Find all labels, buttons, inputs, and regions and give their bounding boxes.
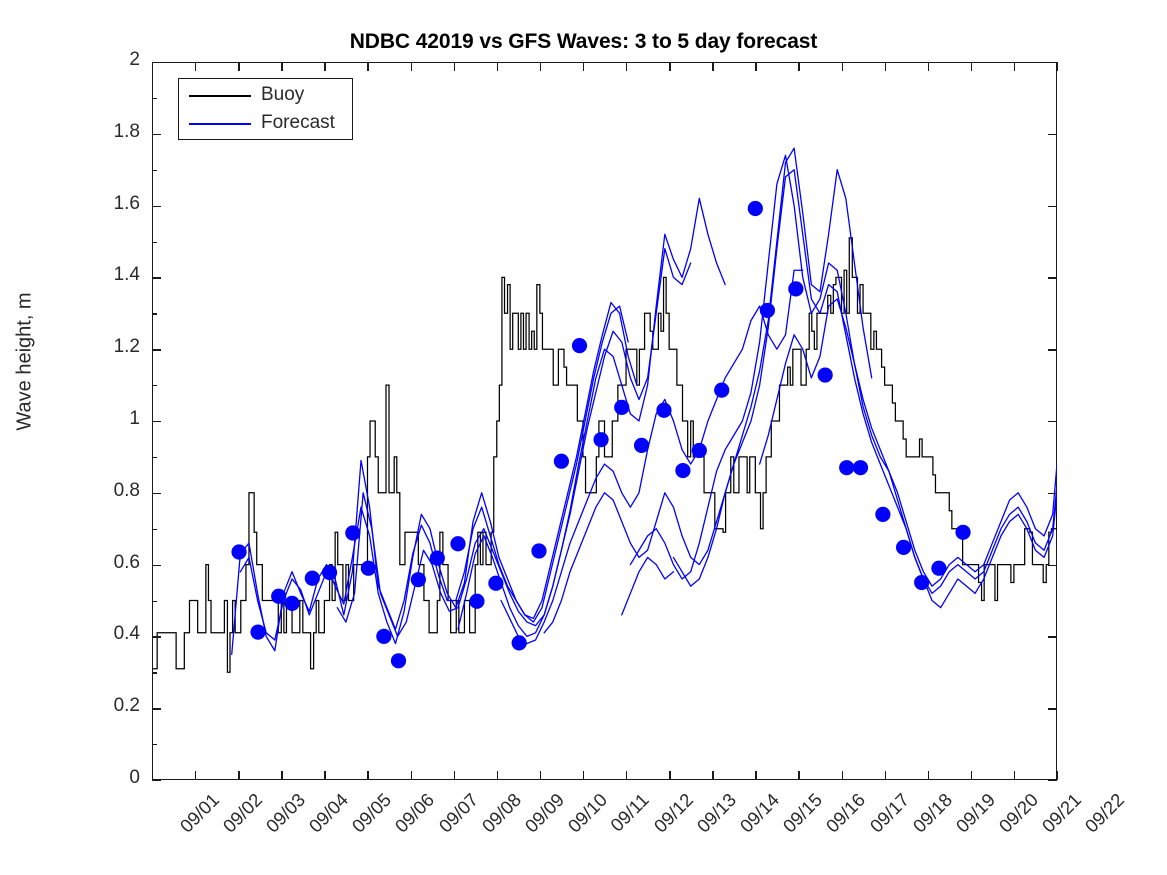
y-minor-tick — [152, 744, 157, 745]
forecast-marker-15[interactable] — [512, 635, 527, 650]
y-tick-label: 0.2 — [40, 695, 140, 717]
x-tick-label: 09/02 — [219, 789, 267, 837]
y-tick-mark — [152, 565, 161, 566]
legend-label-buoy: Buoy — [261, 84, 304, 106]
x-tick-label: 09/16 — [822, 789, 870, 837]
x-tick-label: 09/06 — [391, 789, 439, 837]
x-tick-mark — [755, 771, 756, 780]
y-tick-label: 1.8 — [40, 121, 140, 143]
x-tick-mark-top — [152, 62, 153, 71]
forecast-marker-23[interactable] — [675, 463, 690, 478]
x-tick-mark — [712, 771, 713, 780]
x-tick-label: 09/15 — [779, 789, 827, 837]
x-tick-label: 09/08 — [477, 789, 525, 837]
y-minor-tick — [152, 457, 157, 458]
x-tick-label: 09/21 — [1037, 789, 1085, 837]
forecast-marker-6[interactable] — [345, 525, 360, 540]
legend-item-buoy[interactable]: Buoy — [179, 83, 354, 109]
forecast-marker-19[interactable] — [593, 432, 608, 447]
x-tick-mark-top — [497, 62, 498, 71]
x-tick-mark-top — [454, 62, 455, 71]
forecast-marker-16[interactable] — [531, 543, 546, 558]
y-tick-label: 0.4 — [40, 623, 140, 645]
forecast-marker-4[interactable] — [305, 571, 320, 586]
y-tick-label: 1.2 — [40, 336, 140, 358]
y-axis-label: Wave height, m — [14, 132, 37, 592]
figure-canvas: NDBC 42019 vs GFS Waves: 3 to 5 day fore… — [0, 0, 1167, 875]
x-tick-mark — [971, 771, 972, 780]
forecast-marker-36[interactable] — [955, 525, 970, 540]
forecast-marker-2[interactable] — [271, 589, 286, 604]
x-tick-mark-top — [540, 62, 541, 71]
forecast-marker-14[interactable] — [488, 576, 503, 591]
x-tick-mark — [928, 771, 929, 780]
x-tick-mark — [1057, 771, 1058, 780]
forecast-marker-10[interactable] — [411, 572, 426, 587]
y-tick-mark — [152, 277, 161, 278]
forecast-marker-7[interactable] — [361, 561, 376, 576]
x-tick-mark — [367, 771, 368, 780]
forecast-marker-20[interactable] — [614, 400, 629, 415]
x-tick-mark-top — [842, 62, 843, 71]
y-minor-tick — [152, 98, 157, 99]
y-tick-mark — [152, 493, 161, 494]
y-minor-tick — [152, 601, 157, 602]
y-tick-mark — [152, 780, 161, 781]
x-tick-mark-top — [798, 62, 799, 71]
y-tick-mark — [152, 206, 161, 207]
x-tick-mark — [497, 771, 498, 780]
y-minor-tick — [152, 529, 157, 530]
chart-svg — [152, 62, 1057, 780]
x-tick-label: 09/20 — [994, 789, 1042, 837]
y-tick-mark-right — [1048, 206, 1057, 207]
x-tick-mark-top — [411, 62, 412, 71]
x-tick-mark-top — [281, 62, 282, 71]
x-tick-label: 09/05 — [348, 789, 396, 837]
x-tick-mark-top — [712, 62, 713, 71]
forecast-line-segment-9 — [622, 557, 674, 614]
y-minor-tick — [152, 313, 157, 314]
forecast-marker-31[interactable] — [853, 460, 868, 475]
legend-item-forecast[interactable]: Forecast — [179, 111, 354, 137]
x-tick-label: 09/11 — [606, 789, 653, 836]
forecast-marker-29[interactable] — [818, 367, 833, 382]
forecast-marker-0[interactable] — [231, 544, 246, 559]
y-tick-label: 2 — [40, 49, 140, 71]
y-tick-mark-right — [1048, 565, 1057, 566]
forecast-marker-18[interactable] — [572, 338, 587, 353]
x-tick-mark — [669, 771, 670, 780]
x-tick-mark-top — [195, 62, 196, 71]
x-tick-mark-top — [367, 62, 368, 71]
x-tick-mark — [885, 771, 886, 780]
x-tick-mark — [626, 771, 627, 780]
x-tick-mark — [411, 771, 412, 780]
x-tick-mark-top — [583, 62, 584, 71]
x-tick-label: 09/03 — [262, 789, 310, 837]
forecast-line-segment-3 — [458, 198, 725, 636]
chart-legend[interactable]: Buoy Forecast — [178, 78, 353, 140]
x-tick-label: 09/18 — [908, 789, 956, 837]
forecast-marker-21[interactable] — [634, 438, 649, 453]
y-tick-label: 1.6 — [40, 193, 140, 215]
x-tick-label: 09/17 — [865, 789, 913, 837]
y-minor-tick — [152, 385, 157, 386]
forecast-marker-28[interactable] — [788, 281, 803, 296]
forecast-marker-34[interactable] — [914, 575, 929, 590]
x-tick-mark-top — [928, 62, 929, 71]
x-tick-mark — [324, 771, 325, 780]
y-tick-mark-right — [1048, 493, 1057, 494]
forecast-marker-9[interactable] — [391, 653, 406, 668]
forecast-marker-33[interactable] — [896, 540, 911, 555]
legend-swatch-forecast — [189, 123, 251, 125]
forecast-marker-8[interactable] — [376, 629, 391, 644]
y-tick-mark — [152, 349, 161, 350]
y-minor-tick — [152, 170, 157, 171]
forecast-marker-13[interactable] — [469, 594, 484, 609]
x-tick-mark-top — [238, 62, 239, 71]
x-tick-label: 09/14 — [736, 789, 784, 837]
forecast-line-segment-7 — [673, 170, 1057, 594]
x-tick-mark — [152, 771, 153, 780]
forecast-marker-22[interactable] — [656, 403, 671, 418]
y-tick-mark — [152, 636, 161, 637]
legend-label-forecast: Forecast — [261, 112, 335, 134]
legend-swatch-buoy — [189, 95, 251, 97]
x-tick-mark — [454, 771, 455, 780]
y-minor-tick — [152, 672, 157, 673]
y-tick-label: 0.8 — [40, 480, 140, 502]
x-tick-mark — [281, 771, 282, 780]
forecast-marker-5[interactable] — [322, 565, 337, 580]
y-tick-label: 0.6 — [40, 552, 140, 574]
forecast-marker-35[interactable] — [931, 561, 946, 576]
forecast-marker-25[interactable] — [714, 383, 729, 398]
x-tick-label: 09/13 — [693, 789, 741, 837]
x-tick-mark — [540, 771, 541, 780]
y-tick-mark-right — [1048, 636, 1057, 637]
y-tick-mark-right — [1048, 134, 1057, 135]
y-tick-label: 1 — [40, 408, 140, 430]
x-tick-mark-top — [626, 62, 627, 71]
x-tick-mark — [195, 771, 196, 780]
x-tick-label: 09/04 — [305, 789, 353, 837]
y-tick-mark — [152, 421, 161, 422]
x-tick-mark-top — [669, 62, 670, 71]
x-tick-mark-top — [1057, 62, 1058, 71]
y-minor-tick — [152, 242, 157, 243]
x-tick-mark — [583, 771, 584, 780]
y-tick-label: 1.4 — [40, 264, 140, 286]
x-tick-label: 09/19 — [951, 789, 999, 837]
y-tick-mark-right — [1048, 708, 1057, 709]
forecast-marker-27[interactable] — [760, 303, 775, 318]
x-tick-mark-top — [1014, 62, 1015, 71]
y-tick-label: 0 — [40, 767, 140, 789]
y-tick-mark-right — [1048, 780, 1057, 781]
y-tick-mark — [152, 708, 161, 709]
forecast-marker-30[interactable] — [839, 460, 854, 475]
y-tick-mark-right — [1048, 349, 1057, 350]
forecast-marker-3[interactable] — [284, 596, 299, 611]
x-tick-label: 09/01 — [176, 789, 224, 837]
forecast-line-segment-8 — [760, 299, 1057, 608]
x-tick-mark-top — [755, 62, 756, 71]
forecast-marker-12[interactable] — [450, 536, 465, 551]
forecast-marker-32[interactable] — [875, 507, 890, 522]
y-tick-mark-right — [1048, 62, 1057, 63]
plot-data-layer — [152, 62, 1057, 780]
x-tick-mark — [1014, 771, 1015, 780]
x-tick-mark-top — [885, 62, 886, 71]
forecast-marker-26[interactable] — [748, 201, 763, 216]
x-tick-label: 09/09 — [520, 789, 568, 837]
y-tick-mark — [152, 134, 161, 135]
x-tick-mark — [842, 771, 843, 780]
forecast-marker-1[interactable] — [250, 624, 265, 639]
x-tick-label: 09/22 — [1081, 789, 1129, 837]
x-tick-label: 09/12 — [650, 789, 698, 837]
x-tick-mark-top — [971, 62, 972, 71]
x-tick-label: 09/07 — [434, 789, 482, 837]
forecast-line-segment-6 — [630, 155, 1057, 586]
x-tick-mark — [238, 771, 239, 780]
y-tick-mark-right — [1048, 421, 1057, 422]
y-tick-mark-right — [1048, 277, 1057, 278]
forecast-marker-11[interactable] — [430, 551, 445, 566]
forecast-marker-24[interactable] — [692, 443, 707, 458]
x-tick-mark-top — [324, 62, 325, 71]
forecast-marker-17[interactable] — [554, 454, 569, 469]
x-tick-mark — [798, 771, 799, 780]
x-tick-label: 09/10 — [563, 789, 611, 837]
chart-title: NDBC 42019 vs GFS Waves: 3 to 5 day fore… — [0, 30, 1167, 54]
